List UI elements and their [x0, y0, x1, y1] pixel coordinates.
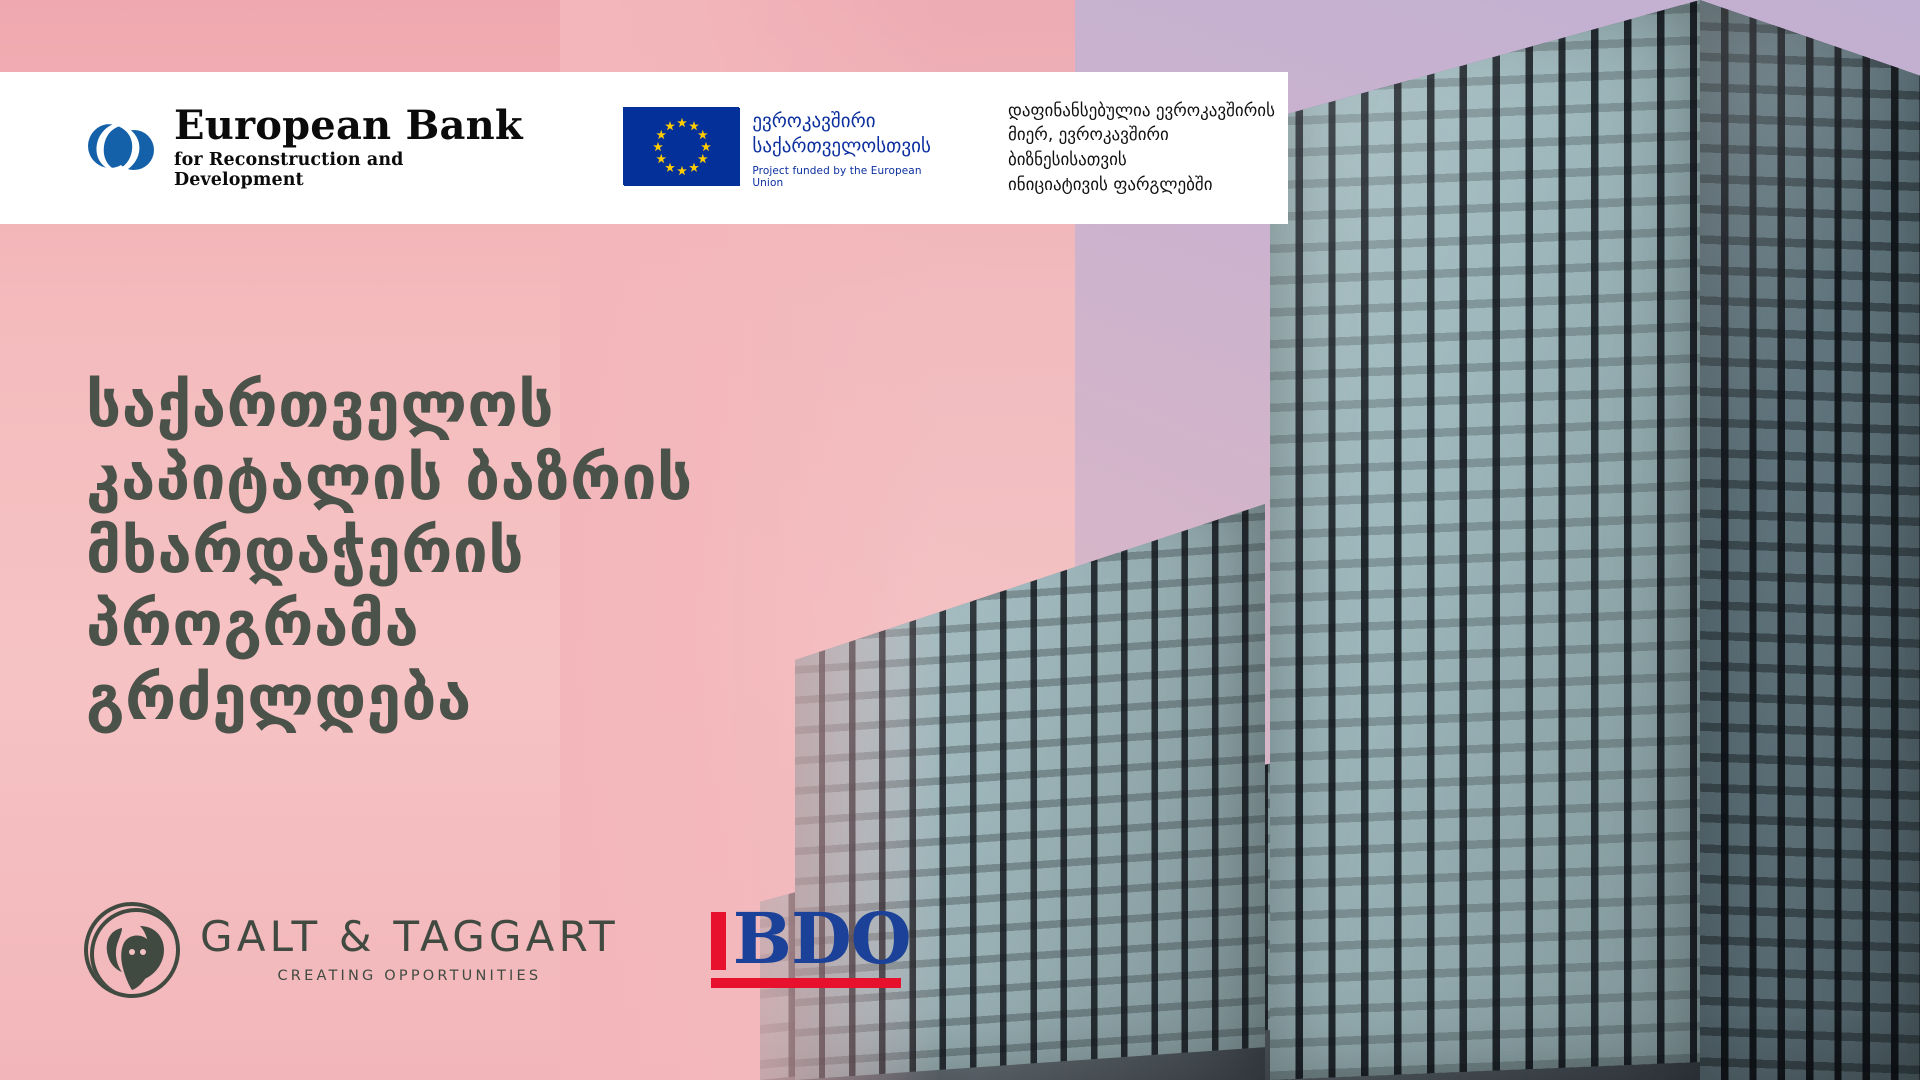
bdo-bracket-vertical-icon — [711, 912, 726, 970]
ebrd-subtitle: for Reconstruction and Development — [174, 150, 531, 190]
bdo-wordmark: BDO — [733, 904, 911, 974]
eu-funding-caption: Project funded by the European Union — [752, 165, 950, 189]
funding-note-line2: მიერ, ევროკავშირი ბიზნესისათვის — [1008, 123, 1288, 172]
galt-taggart-name: GALT & TAGGART — [200, 916, 619, 958]
funding-note-line3: ინიციატივის ფარგლებში — [1008, 173, 1288, 198]
headline-line-4: პროგრამა — [86, 587, 693, 660]
headline-line-3: მხარდაჭერის — [86, 514, 693, 587]
galt-taggart-logo: GALT & TAGGART CREATING OPPORTUNITIES — [84, 902, 619, 998]
eu-logo: ევროკავშირი საქართველოსთვის Project fund… — [623, 107, 950, 188]
headline-line-2: კაპიტალის ბაზრის — [86, 441, 693, 514]
bdo-logo: BDO — [711, 908, 901, 992]
sponsor-logo-bar: European Bank for Reconstruction and Dev… — [0, 72, 1288, 224]
galt-taggart-tagline: CREATING OPPORTUNITIES — [200, 968, 619, 984]
building-main-tower-side-face — [1700, 0, 1920, 1080]
ebrd-title: European Bank — [174, 106, 531, 147]
headline-line-5: გრძელდება — [86, 661, 693, 734]
eu-text-line2: საქართველოსთვის — [752, 134, 950, 159]
eu-text-line1: ევროკავშირი — [752, 109, 950, 134]
page-title: საქართველოს კაპიტალის ბაზრის მხარდაჭერის… — [86, 368, 693, 734]
funding-note: დაფინანსებულია ევროკავშირის მიერ, ევროკა… — [1008, 99, 1288, 198]
ram-roundel-icon — [84, 902, 180, 998]
headline-line-1: საქართველოს — [86, 368, 693, 441]
building-main-tower — [1270, 0, 1700, 1080]
ebrd-logo: European Bank for Reconstruction and Dev… — [86, 106, 531, 190]
partner-logos: GALT & TAGGART CREATING OPPORTUNITIES BD… — [84, 902, 901, 998]
ebrd-roundel-icon — [86, 112, 158, 184]
european-union-flag-icon — [623, 107, 739, 185]
funding-note-line1: დაფინანსებულია ევროკავშირის — [1008, 99, 1288, 124]
